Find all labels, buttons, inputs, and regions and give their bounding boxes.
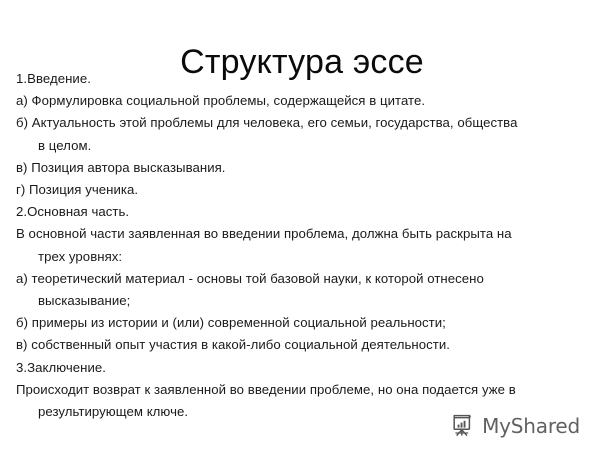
slide-canvas: Структура эссе 1.Введение.а) Формулировк… <box>0 0 604 453</box>
body-line: высказывание; <box>16 290 594 312</box>
slide-body-text: 1.Введение.а) Формулировка социальной пр… <box>16 68 594 423</box>
body-line: 3.Заключение. <box>16 357 594 379</box>
myshared-label: MyShared <box>482 415 580 437</box>
body-line: г) Позиция ученика. <box>16 179 594 201</box>
body-line: б) примеры из истории и (или) современно… <box>16 312 594 334</box>
body-line: в) Позиция автора высказывания. <box>16 157 594 179</box>
body-line: б) Актуальность этой проблемы для челове… <box>16 112 594 134</box>
body-line: в целом. <box>16 135 594 157</box>
presentation-board-chart-icon <box>450 413 476 439</box>
body-line: а) теоретический материал - основы той б… <box>16 268 594 290</box>
body-line: трех уровнях: <box>16 246 594 268</box>
body-line: 2.Основная часть. <box>16 201 594 223</box>
body-line: В основной части заявленная во введении … <box>16 223 594 245</box>
body-line: в) собственный опыт участия в какой-либо… <box>16 334 594 356</box>
body-line: Происходит возврат к заявленной во введе… <box>16 379 594 401</box>
body-line: а) Формулировка социальной проблемы, сод… <box>16 90 594 112</box>
body-line: 1.Введение. <box>16 68 594 90</box>
myshared-watermark: MyShared <box>450 413 580 439</box>
